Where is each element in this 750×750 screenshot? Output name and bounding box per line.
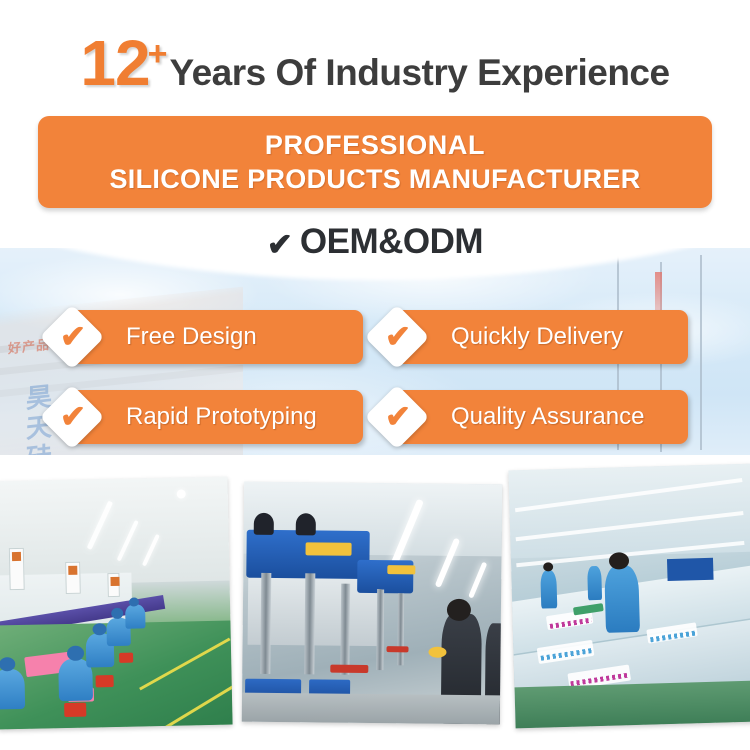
check-icon: ✔ [57, 401, 89, 433]
photo-assembly-line [0, 477, 233, 730]
press-column [397, 594, 404, 666]
stool [64, 703, 86, 717]
worker-head [447, 599, 471, 621]
photo-molding-press [242, 482, 502, 725]
main-banner-line2: SILICONE PRODUCTS MANUFACTURER [109, 162, 640, 196]
check-icon: ✔ [382, 401, 414, 433]
feature-badge-label: Quality Assurance [451, 403, 644, 431]
check-icon: ✔ [267, 227, 293, 263]
worker-head [111, 608, 123, 619]
plus-sign: + [148, 35, 168, 73]
promotional-banner: 好产品 昊天硅 12+Years Of Industry Experience … [0, 0, 750, 750]
storage-rack [667, 558, 714, 581]
feature-badge-quickly-delivery[interactable]: ✔ Quickly Delivery [395, 310, 688, 364]
oem-odm-line: ✔OEM&ODM [0, 222, 750, 263]
press-head [295, 513, 315, 535]
headline: 12+Years Of Industry Experience [0, 26, 750, 100]
stool [96, 675, 114, 687]
press-column [304, 573, 315, 674]
main-banner: PROFESSIONAL SILICONE PRODUCTS MANUFACTU… [38, 116, 712, 208]
feature-badge-label: Quickly Delivery [451, 323, 623, 351]
years-number: 12 [80, 27, 149, 99]
ceiling-lamp-icon [468, 561, 487, 598]
wall-poster [108, 573, 120, 597]
headline-text: Years Of Industry Experience [169, 52, 669, 93]
check-icon: ✔ [57, 321, 89, 353]
photo-ceiling [0, 477, 230, 586]
oem-odm-text: OEM&ODM [300, 222, 483, 261]
worker-head [543, 562, 553, 571]
photo-floor [242, 693, 500, 724]
wall-poster [65, 562, 81, 594]
feature-badge-free-design[interactable]: ✔ Free Design [70, 310, 363, 364]
press-column [340, 583, 350, 674]
factory-photo-strip [0, 455, 750, 750]
check-icon: ✔ [382, 321, 414, 353]
worker-head [92, 623, 106, 635]
worker [541, 570, 558, 609]
flagpole-icon [700, 255, 702, 450]
machine-label [388, 565, 416, 574]
photo-floor [514, 680, 750, 728]
red-rack [387, 646, 409, 652]
wall-poster [9, 548, 25, 590]
press-head [254, 513, 274, 535]
worker [587, 566, 602, 600]
feature-badge-rapid-prototyping[interactable]: ✔ Rapid Prototyping [70, 390, 363, 444]
red-rack [330, 665, 368, 673]
machine-label [305, 542, 351, 555]
photo-inspection-conveyor [508, 464, 750, 729]
feature-badge-quality-assurance[interactable]: ✔ Quality Assurance [395, 390, 688, 444]
worker [125, 605, 145, 629]
main-banner-line1: PROFESSIONAL [265, 128, 485, 162]
press-column [260, 573, 271, 674]
stool [119, 652, 133, 662]
held-product [428, 647, 446, 658]
worker [604, 565, 640, 633]
press-column [376, 589, 384, 671]
feature-badge-label: Rapid Prototyping [126, 403, 317, 431]
worker [0, 669, 26, 710]
feature-badge-label: Free Design [126, 323, 257, 351]
